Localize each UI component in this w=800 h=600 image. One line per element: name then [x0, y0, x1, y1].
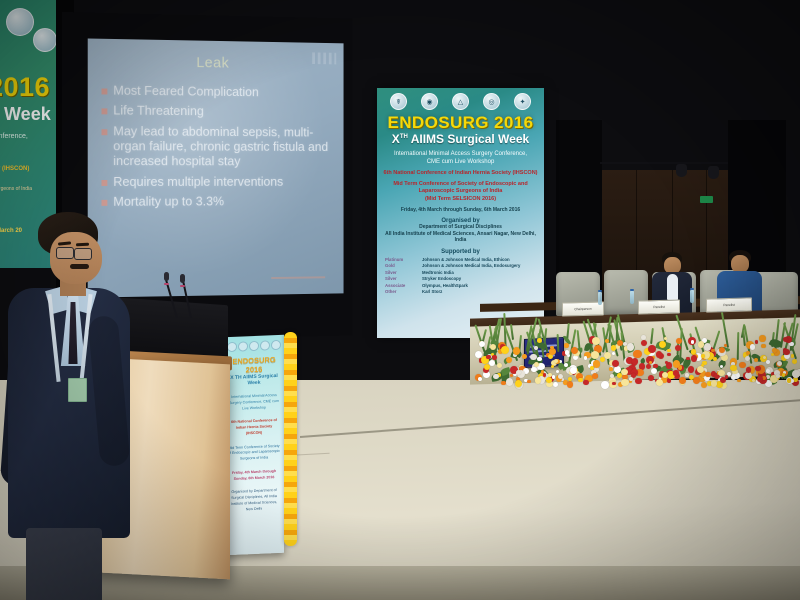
- flower-bloom: [691, 355, 698, 362]
- flower-bloom: [667, 353, 670, 356]
- sponsor-name: Karl Storz: [422, 289, 536, 295]
- banner-sponsor-list: Platinum Johnson & Johnson Medical India…: [377, 257, 544, 296]
- banner-left-logo-icon: [33, 28, 57, 52]
- banner-dates: Friday, 4th March through Sunday, 6th Ma…: [377, 207, 544, 214]
- flower-bloom: [612, 352, 616, 356]
- sponsor-tier: Other: [385, 289, 417, 295]
- flower-bloom: [705, 372, 710, 377]
- flower-bloom: [633, 350, 641, 358]
- endosurg-emblem-logo-icon: △: [452, 93, 469, 110]
- flower-bloom: [754, 358, 758, 362]
- society-logo-icon: ✦: [514, 93, 531, 110]
- flower-bloom: [501, 346, 509, 354]
- light-truss: [600, 162, 728, 164]
- banner-dates-text: Friday, 4th March through Sunday, 6th Ma…: [383, 207, 538, 214]
- banner-midterm: Mid Term Conference of Society of Endosc…: [377, 181, 544, 202]
- flower-bloom: [592, 373, 598, 379]
- banner-title: ENDOSURG 2016: [377, 113, 544, 133]
- flower-bloom: [584, 356, 588, 360]
- flower-bloom: [497, 363, 503, 369]
- banner-organiser-address: All India Institute of Medical Sciences,…: [383, 231, 538, 244]
- standee-logo-icon: [260, 340, 270, 350]
- flower-bloom: [635, 378, 641, 384]
- banner-left-midterm: aroscopic Surgeons of India 6): [0, 186, 32, 201]
- flower-bloom: [701, 354, 705, 358]
- banner-left-logo-icon: [6, 8, 34, 36]
- flower-bloom: [478, 377, 482, 381]
- foliage-spike: [737, 332, 740, 360]
- slide-bullet-text: Most Feared Complication: [113, 83, 259, 100]
- speaker-id-badge: [68, 378, 87, 402]
- flower-bloom: [792, 359, 797, 364]
- flower-bloom: [591, 351, 599, 359]
- banner-left-conf-line1: ery Conference,: [0, 132, 28, 143]
- flower-bloom: [771, 353, 774, 356]
- slide-bullet-text: Life Threatening: [113, 103, 204, 119]
- banner-conf-line2: CME cum Live Workshop: [383, 158, 538, 166]
- banner-organiser-block: Organised by Department of Surgical Disc…: [377, 218, 544, 255]
- flower-bloom: [713, 357, 718, 362]
- banner-left-conference: ery Conference, hop: [0, 132, 28, 153]
- microphone-band: [164, 283, 169, 285]
- standee-logo-row: [224, 335, 284, 353]
- flower-bloom: [725, 375, 729, 379]
- banner-left-midterm-line1: aroscopic Surgeons of India: [0, 186, 32, 194]
- flower-bloom: [664, 337, 667, 340]
- flower-bloom: [711, 380, 718, 387]
- flower-bloom: [761, 344, 766, 349]
- flower-bloom: [667, 378, 672, 383]
- flower-bloom: [739, 362, 745, 368]
- standee-logo-icon: [249, 341, 259, 351]
- flower-bloom: [763, 356, 766, 359]
- flower-bloom: [548, 373, 552, 377]
- flower-bloom: [568, 377, 572, 381]
- flower-bloom: [610, 374, 614, 378]
- flower-bloom: [665, 361, 668, 364]
- flower-bloom: [691, 340, 694, 343]
- conference-hall-photo: 2016 al Week ery Conference, hop a Socie…: [0, 0, 800, 600]
- flower-bloom: [752, 379, 756, 383]
- flower-bloom: [718, 370, 725, 377]
- banner-supported-by-label: Supported by: [383, 249, 538, 255]
- flower-bloom: [679, 377, 686, 384]
- panelist-shirt: [667, 274, 678, 300]
- flower-bloom: [746, 367, 752, 373]
- slide-bullet-text: May lead to abdominal sepsis, multi-orga…: [113, 123, 336, 169]
- speaker-presenter: [8, 210, 133, 600]
- standee-line1: International Minimal Access Surgery Con…: [224, 393, 284, 413]
- flower-bloom: [605, 339, 609, 343]
- banner-subtitle: XTH AIIMS Surgical Week: [377, 132, 544, 146]
- eyeglasses-icon: [56, 247, 74, 259]
- bullet-marker-icon: [101, 88, 107, 94]
- bullet-marker-icon: [101, 180, 107, 186]
- water-bottle-cap: [630, 289, 634, 291]
- flower-bloom: [791, 354, 794, 357]
- slide-corner-mark: [312, 52, 336, 64]
- flower-bloom: [600, 357, 605, 362]
- banner-midterm-line1: Mid Term Conference of Society of Endosc…: [383, 181, 538, 195]
- flower-bloom: [746, 351, 750, 355]
- flower-bloom: [621, 369, 628, 376]
- flower-bloom: [490, 344, 496, 350]
- flower-bloom: [629, 377, 633, 381]
- standee-line5: Organised by Department of Surgical Disc…: [224, 488, 284, 514]
- slide-bullet: Life Threatening: [101, 103, 336, 120]
- foliage-spike: [721, 312, 729, 348]
- flower-bloom: [564, 343, 568, 347]
- flower-bloom: [641, 340, 647, 346]
- flower-bloom: [530, 354, 536, 360]
- flower-bloom: [685, 373, 688, 376]
- flower-bloom: [578, 378, 583, 383]
- flower-bloom: [506, 357, 513, 364]
- bullet-marker-icon: [101, 109, 107, 115]
- foliage-spike: [510, 324, 514, 340]
- flower-bloom: [571, 347, 578, 354]
- flower-bloom: [632, 358, 639, 365]
- stage-light: [676, 164, 687, 177]
- banner-conf-line1: International Minimal Access Surgery Con…: [383, 150, 538, 158]
- slide-bullet-text: Requires multiple interventions: [113, 174, 283, 189]
- flower-bloom: [688, 366, 694, 372]
- flower-bloom: [673, 360, 680, 367]
- flower-bloom: [479, 341, 485, 347]
- flower-bloom: [648, 345, 656, 353]
- flower-bloom: [704, 343, 712, 351]
- banner-left-year: 2016: [0, 72, 50, 103]
- flower-bloom: [720, 365, 724, 369]
- standee-line2: 6th National Conference of Indian Hernia…: [224, 418, 284, 438]
- conference-standee: ENDOSURG 2016 X TH AIIMS Surgical Week I…: [224, 335, 284, 556]
- flower-bloom: [755, 340, 759, 344]
- flower-bloom: [776, 374, 780, 378]
- banner-national-conf: 6th National Conference of Indian Hernia…: [377, 170, 544, 177]
- speaker-trousers: [26, 528, 102, 600]
- flower-bloom: [782, 373, 785, 376]
- microphone-head-icon: [164, 272, 169, 281]
- aiims-logo-icon: ☤: [390, 93, 407, 110]
- flower-bloom: [731, 375, 736, 380]
- flower-bloom: [534, 362, 539, 367]
- flower-bloom: [527, 380, 531, 384]
- standee-logo-icon: [238, 341, 248, 351]
- flower-bloom: [711, 349, 714, 352]
- flower-bloom: [730, 365, 736, 371]
- banner-left-conf-line2: hop: [0, 143, 28, 154]
- flower-bloom: [551, 365, 554, 368]
- standee-line3: Mid Term Conference of Society of Endosc…: [224, 443, 284, 463]
- flower-bloom: [506, 378, 513, 385]
- microphone-head-icon: [180, 274, 185, 283]
- flower-bloom: [609, 367, 613, 371]
- slide-bullet: Most Feared Complication: [101, 83, 336, 101]
- microphone-band: [180, 285, 185, 287]
- flower-bloom: [556, 370, 559, 373]
- water-bottle-cap: [690, 288, 694, 290]
- flower-bloom: [759, 335, 765, 341]
- flower-bloom: [667, 349, 670, 352]
- sponsor-row: Other Karl Storz: [385, 289, 536, 295]
- slide-bullet-text: Mortality up to 3.3%: [113, 194, 224, 209]
- flower-bloom: [648, 375, 654, 381]
- flower-bloom: [552, 375, 555, 378]
- marigold-garland-right: [284, 332, 297, 546]
- flower-bloom: [697, 366, 704, 373]
- flower-bloom: [546, 377, 552, 383]
- flower-bloom: [662, 372, 668, 378]
- slide-bullet: Requires multiple interventions: [101, 174, 336, 189]
- water-bottle-cap: [598, 290, 602, 292]
- flower-bloom: [493, 374, 498, 379]
- flower-bloom: [757, 376, 763, 382]
- selsi-logo-icon: ◎: [483, 93, 500, 110]
- flower-bloom: [792, 370, 800, 378]
- flower-bloom: [537, 357, 542, 362]
- foliage-spike: [651, 328, 655, 344]
- flower-bloom: [673, 370, 678, 375]
- flower-bloom: [516, 370, 521, 375]
- flower-bloom: [489, 360, 495, 366]
- flower-bloom: [515, 380, 522, 387]
- banner-national-conf-text: 6th National Conference of Indian Hernia…: [383, 170, 538, 177]
- banner-subtitle-rest: AIIMS Surgical Week: [408, 132, 529, 146]
- flower-bloom: [513, 347, 520, 354]
- banner-subtitle-sup: TH: [400, 134, 408, 140]
- standee-subtitle: X TH AIIMS Surgical Week: [224, 373, 284, 388]
- flower-bloom: [745, 372, 752, 379]
- flower-bloom: [583, 380, 589, 386]
- eyeglasses-icon: [74, 248, 92, 260]
- flower-bloom: [558, 374, 563, 379]
- standee-logo-icon: [227, 342, 237, 352]
- ihs-logo-icon: ◉: [421, 93, 438, 110]
- flower-bloom: [783, 349, 789, 355]
- flower-bloom: [601, 381, 609, 389]
- flower-bloom: [486, 355, 491, 360]
- flower-bloom: [604, 352, 611, 359]
- floral-arrangement: null: [474, 300, 800, 386]
- flower-bloom: [656, 351, 662, 357]
- flower-bloom: [656, 379, 663, 386]
- banner-left-midterm-line2: 6): [0, 194, 32, 202]
- stage-light: [708, 166, 719, 179]
- flower-bloom: [641, 335, 646, 340]
- banner-conference-lines: International Minimal Access Surgery Con…: [377, 150, 544, 166]
- flower-bloom: [750, 344, 756, 350]
- flower-bloom: [611, 345, 617, 351]
- flower-bloom: [627, 343, 635, 351]
- flower-bloom: [612, 382, 615, 385]
- bullet-marker-icon: [101, 200, 107, 206]
- slide-bullet-list: Most Feared Complication Life Threatenin…: [101, 83, 336, 215]
- flower-bloom: [686, 357, 689, 360]
- flower-bloom: [651, 368, 657, 374]
- banner-subtitle-prefix: X: [392, 132, 400, 146]
- flower-bloom: [553, 382, 558, 387]
- flower-bloom: [766, 369, 770, 373]
- flower-bloom: [567, 381, 574, 388]
- speaker-mustache: [70, 264, 89, 269]
- flower-bloom: [550, 346, 554, 350]
- standee-line4: Friday, 4th March through Sunday, 6th Ma…: [224, 468, 284, 482]
- flower-bloom: [719, 347, 725, 353]
- banner-left-society: a Society (IHSCON): [0, 166, 29, 172]
- bullet-marker-icon: [101, 129, 107, 135]
- flower-bloom: [766, 360, 770, 364]
- banner-left-week: al Week: [0, 104, 51, 125]
- exit-sign-icon: [700, 196, 713, 203]
- banner-midterm-line2: (Mid Term SELSICON 2016): [383, 196, 538, 203]
- standee-logo-icon: [271, 340, 281, 350]
- flower-bloom: [501, 381, 506, 386]
- slide-bullet: May lead to abdominal sepsis, multi-orga…: [101, 123, 336, 169]
- slide-title: Leak: [196, 54, 229, 71]
- flower-bloom: [621, 379, 629, 387]
- foliage-spike: [679, 328, 683, 359]
- banner-logo-row: ☤ ◉ △ ◎ ✦: [377, 88, 544, 112]
- slide-bullet: Mortality up to 3.3%: [101, 193, 336, 209]
- flower-bloom: [772, 348, 777, 353]
- flower-bloom: [783, 337, 788, 342]
- flower-bloom: [565, 350, 570, 355]
- flower-bloom: [737, 379, 740, 382]
- flower-bloom: [701, 382, 707, 388]
- flower-bloom: [693, 377, 700, 384]
